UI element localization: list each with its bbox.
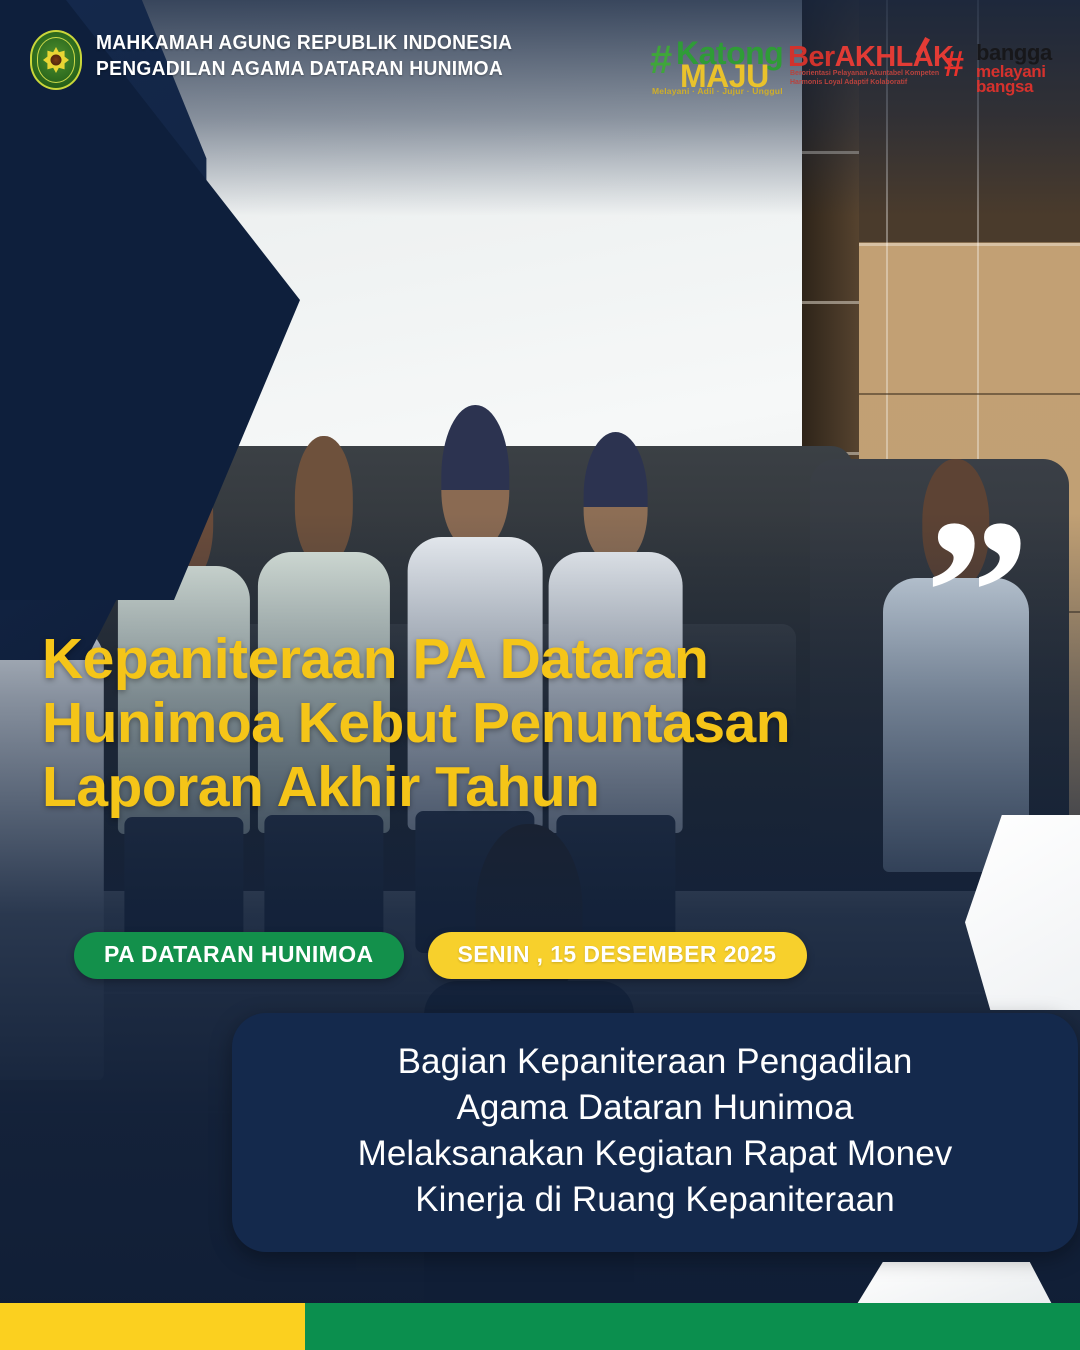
org-line-2: PENGADILAN AGAMA DATARAN HUNIMOA bbox=[96, 57, 512, 83]
date-badge: SENIN , 15 DESEMBER 2025 bbox=[428, 932, 807, 979]
poster-headline: Kepaniteraan PA Dataran Hunimoa Kebut Pe… bbox=[42, 628, 902, 819]
berakhlak-sub-line-2: Harmonis Loyal Adaptif Kolaboratif bbox=[790, 78, 939, 87]
headline-line-2: Hunimoa Kebut Penuntasan bbox=[42, 692, 902, 756]
katong-tagline: Melayani · Adil · Jujur · Unggul bbox=[652, 86, 783, 96]
description-line-3: Melaksanakan Kegiatan Rapat Monev bbox=[262, 1131, 1048, 1177]
institution-badge: PA DATARAN HUNIMOA bbox=[74, 932, 404, 979]
headline-line-1: Kepaniteraan PA Dataran bbox=[42, 628, 902, 692]
bangga-melayani-bangsa-logo-icon: # bangga melayani bangsa bbox=[944, 36, 1052, 94]
berakhlak-logo-icon: BerAKHLAK Berorientasi Pelayanan Akuntab… bbox=[788, 37, 934, 93]
bangga-line-1: bangga bbox=[976, 42, 1052, 64]
social-media-poster: ” MAHKAMAH AGUNG REPUBLIK INDONESIA PENG… bbox=[0, 0, 1080, 1350]
footer-bar-yellow bbox=[0, 1303, 305, 1350]
bangga-line-3: bangsa bbox=[976, 78, 1033, 95]
description-line-2: Agama Dataran Hunimoa bbox=[262, 1085, 1048, 1131]
description-text: Bagian Kepaniteraan Pengadilan Agama Dat… bbox=[262, 1039, 1048, 1222]
bangga-mark-icon: # bbox=[944, 48, 974, 82]
berakhlak-sub-line-1: Berorientasi Pelayanan Akuntabel Kompete… bbox=[790, 69, 939, 78]
berakhlak-subtext: Berorientasi Pelayanan Akuntabel Kompete… bbox=[790, 69, 939, 88]
footer-bar-green bbox=[305, 1303, 1080, 1350]
headline-line-3: Laporan Akhir Tahun bbox=[42, 756, 902, 820]
katong-maju-logo-icon: # Katong MAJU Melayani · Adil · Jujur · … bbox=[650, 34, 778, 96]
campaign-logos: # Katong MAJU Melayani · Adil · Jujur · … bbox=[650, 28, 1052, 96]
description-card: Bagian Kepaniteraan Pengadilan Agama Dat… bbox=[232, 1013, 1078, 1252]
description-line-4: Kinerja di Ruang Kepaniteraan bbox=[262, 1177, 1048, 1223]
poster-header: MAHKAMAH AGUNG REPUBLIK INDONESIA PENGAD… bbox=[0, 0, 1080, 120]
mahkamah-agung-crest-icon bbox=[30, 30, 82, 90]
berakhlak-wordmark: BerAKHLAK bbox=[788, 43, 953, 72]
description-line-1: Bagian Kepaniteraan Pengadilan bbox=[262, 1039, 1048, 1085]
org-line-1: MAHKAMAH AGUNG REPUBLIK INDONESIA bbox=[96, 31, 512, 57]
poster-badges: PA DATARAN HUNIMOA SENIN , 15 DESEMBER 2… bbox=[74, 932, 807, 979]
quotation-mark-icon: ” bbox=[925, 536, 1028, 652]
katong-hash: # bbox=[650, 40, 672, 80]
organization-name: MAHKAMAH AGUNG REPUBLIK INDONESIA PENGAD… bbox=[96, 28, 530, 82]
